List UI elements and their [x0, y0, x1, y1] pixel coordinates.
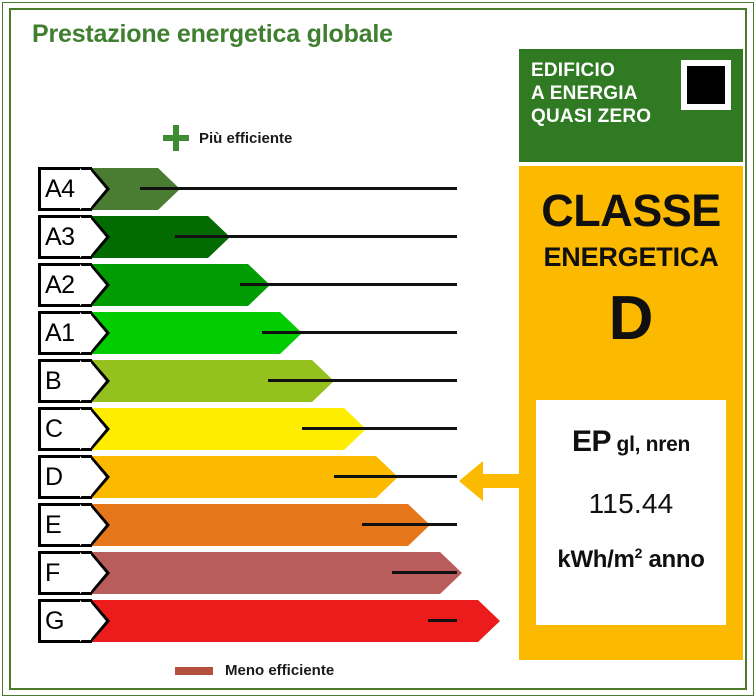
band-notch	[80, 168, 96, 210]
ep-unit-suffix: anno	[642, 546, 705, 573]
band-notch	[80, 552, 96, 594]
class-leader-line	[175, 235, 457, 238]
pointer-head-icon	[459, 461, 483, 501]
band-notch	[80, 360, 96, 402]
band-body	[80, 600, 478, 642]
class-leader-line	[140, 187, 457, 190]
class-leader-line	[392, 571, 457, 574]
class-leader-line	[268, 379, 457, 382]
energy-performance-certificate: Prestazione energetica globale Più effic…	[0, 0, 756, 698]
ep-unit: kWh/m2 anno	[536, 545, 726, 574]
ep-unit-prefix: kWh/m	[557, 546, 634, 573]
energy-class-scale: A4A3A2A1BCDEFG	[0, 0, 500, 698]
band-body	[80, 456, 376, 498]
class-badge-label: C	[45, 417, 63, 442]
ep-value: 115.44	[536, 488, 726, 520]
band-notch	[80, 600, 96, 642]
nzeb-checkbox[interactable]	[681, 60, 731, 110]
band-notch	[80, 456, 96, 498]
energy-class-panel: CLASSE ENERGETICA D EP gl, nren 115.44 k…	[519, 166, 743, 660]
class-leader-line	[302, 427, 457, 430]
class-badge-label: F	[45, 561, 60, 586]
class-badge-label: D	[45, 465, 63, 490]
ep-index-box: EP gl, nren 115.44 kWh/m2 anno	[536, 400, 726, 625]
legend-least-efficient: Meno efficiente	[175, 662, 334, 679]
class-badge-label: A2	[45, 273, 75, 298]
class-badge-label: E	[45, 513, 61, 538]
ep-indicator-name: EP gl, nren	[536, 425, 726, 459]
band-notch	[80, 312, 96, 354]
band-notch	[80, 504, 96, 546]
band-notch	[80, 408, 96, 450]
class-badge-label: A3	[45, 225, 75, 250]
checkbox-filled-icon	[687, 66, 725, 104]
class-badge-label: G	[45, 609, 64, 634]
class-badge-label: A4	[45, 177, 75, 202]
class-leader-line	[362, 523, 457, 526]
ep-unit-exponent: 2	[635, 545, 643, 561]
class-pointer-arrow	[459, 461, 521, 501]
class-leader-line	[240, 283, 457, 286]
assigned-class-letter: D	[519, 288, 743, 350]
band-notch	[80, 264, 96, 306]
classe-heading: CLASSE	[519, 188, 743, 233]
nzeb-label: EDIFICIO A ENERGIA QUASI ZERO	[531, 59, 651, 129]
band-body	[80, 504, 408, 546]
dash-icon	[175, 667, 213, 675]
ep-indicator-sub: gl, nren	[611, 433, 690, 456]
band-arrow-head	[478, 600, 500, 642]
pointer-shaft	[481, 474, 521, 488]
band-body	[80, 552, 440, 594]
class-leader-line	[428, 619, 457, 622]
class-badge-label: B	[45, 369, 61, 394]
energetica-subheading: ENERGETICA	[519, 244, 743, 271]
legend-least-efficient-label: Meno efficiente	[225, 662, 334, 679]
ep-indicator-main: EP	[572, 425, 611, 458]
class-leader-line	[334, 475, 457, 478]
band-notch	[80, 216, 96, 258]
band-body	[80, 312, 280, 354]
class-badge-label: A1	[45, 321, 75, 346]
nzeb-banner: EDIFICIO A ENERGIA QUASI ZERO	[519, 49, 743, 162]
class-leader-line	[262, 331, 457, 334]
